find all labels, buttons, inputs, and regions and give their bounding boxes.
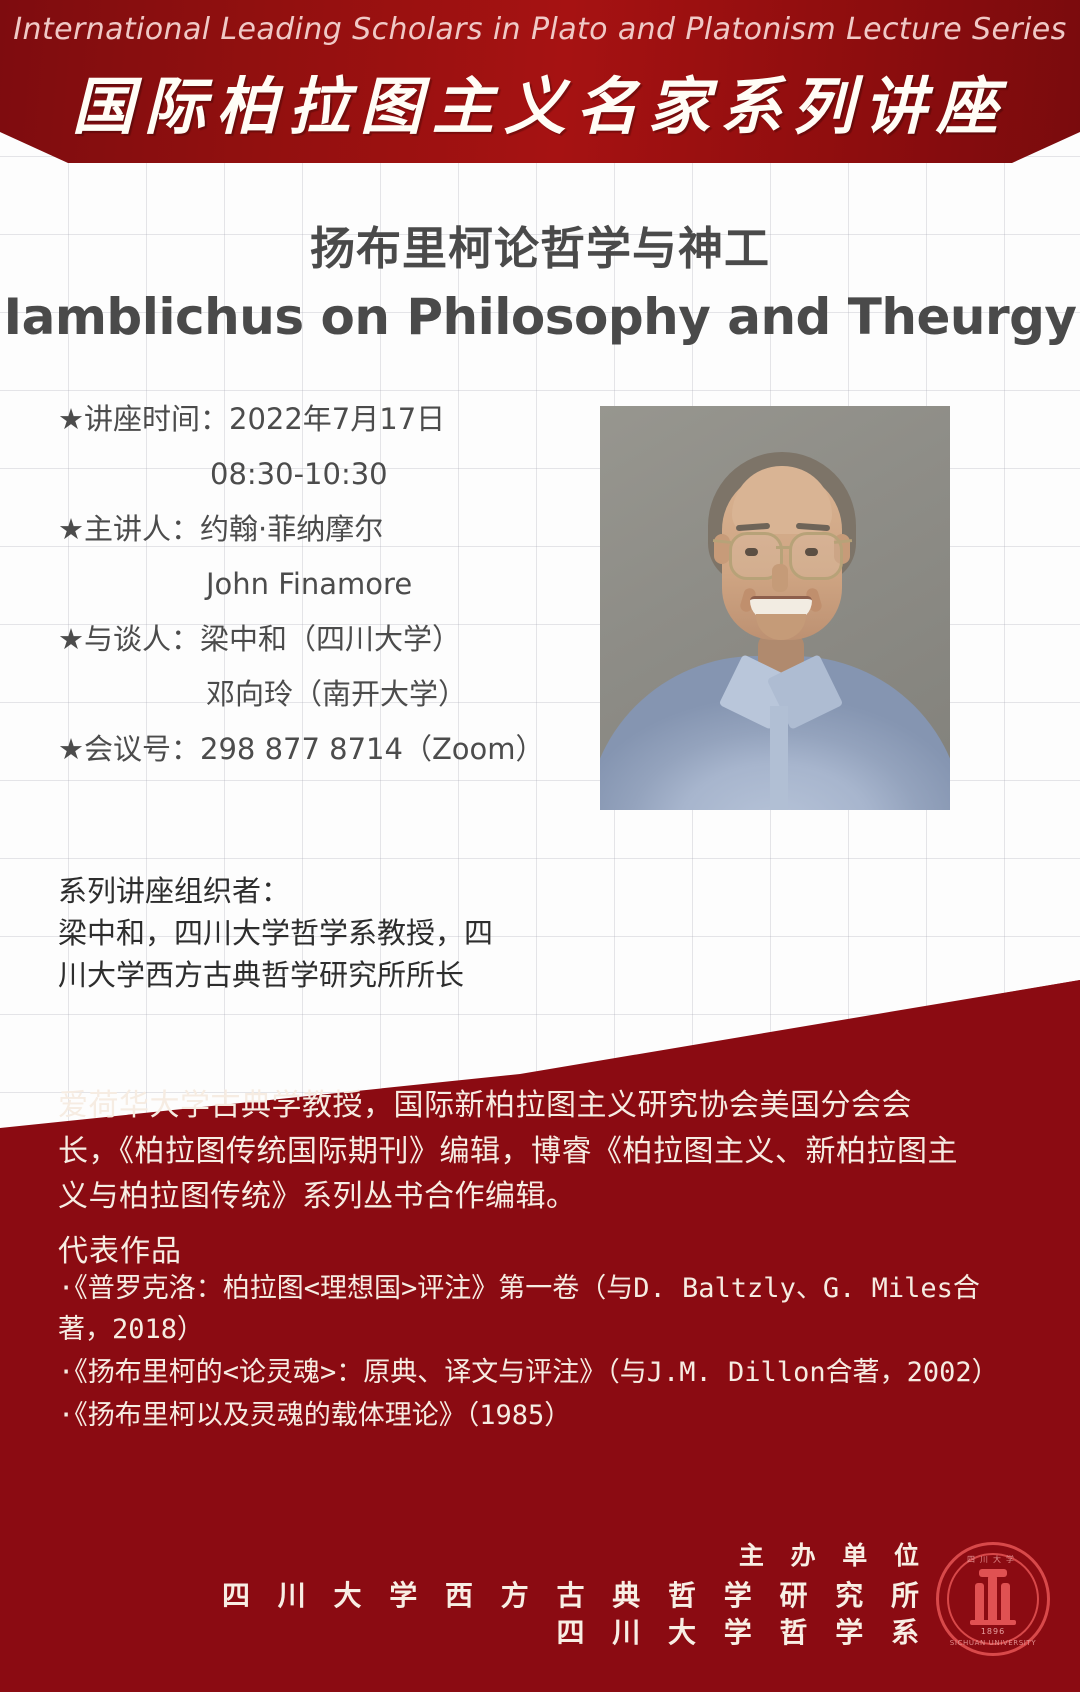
organizer-heading: 系列讲座组织者： [58,870,578,912]
glasses-bridge-icon [776,546,791,549]
host-unit-2: 四 川 大 学 哲 学 系 [222,1615,928,1652]
seal-pillar-left [975,1583,984,1625]
lecture-title-cn: 扬布里柯论哲学与神工 [0,212,1080,277]
works-list: ·《普罗克洛：柏拉图<理想国>评注》第一卷（与D. Baltzly、G. Mil… [58,1268,1018,1438]
lecture-title-en: Iamblichus on Philosophy and Theurgy [0,288,1080,346]
poster-root: International Leading Scholars in Plato … [0,0,1080,1692]
portrait-nose [772,564,788,592]
lecture-info: ★讲座时间：2022年7月17日 08:30-10:30 ★主讲人：约翰·菲纳摩… [58,405,568,790]
host-label: 主 办 单 位 [222,1536,928,1572]
info-speaker-en: John Finamore [58,570,568,599]
info-discussant: ★与谈人：梁中和（四川大学） [58,625,568,654]
list-item: ·《普罗克洛：柏拉图<理想国>评注》第一卷（与D. Baltzly、G. Mil… [58,1268,1018,1350]
speaker-portrait [600,406,950,810]
series-title-cn: 国际柏拉图主义名家系列讲座 [0,56,1080,146]
works-heading: 代表作品 [58,1226,182,1270]
organizer-block: 系列讲座组织者： 梁中和，四川大学哲学系教授，四 川大学西方古典哲学研究所所长 [58,870,578,996]
portrait-shirt-placket [770,706,788,810]
info-speaker: ★主讲人：约翰·菲纳摩尔 [58,515,568,544]
organizer-line-2: 川大学西方古典哲学研究所所长 [58,954,578,996]
seal-gate-pillars [974,1575,1012,1625]
header-content: International Leading Scholars in Plato … [0,0,1080,170]
speaker-bio: 爱荷华大学古典学教授，国际新柏拉图主义研究协会美国分会会长，《柏拉图传统国际期刊… [58,1083,958,1220]
glasses-lens-right-icon [789,532,843,580]
sichuan-university-seal-icon: 四川大学 1896 SICHUAN UNIVERSITY [936,1542,1050,1656]
series-title-en: International Leading Scholars in Plato … [0,12,1080,47]
info-discussant-2: 邓向玲（南开大学） [58,680,568,709]
seal-text-cn: 四川大学 [939,1554,1047,1565]
host-unit-1: 四 川 大 学 西 方 古 典 哲 学 研 究 所 [222,1578,928,1615]
organizer-line-1: 梁中和，四川大学哲学系教授，四 [58,912,578,954]
list-item: ·《扬布里柯的<论灵魂>：原典、译文与评注》（与J.M. Dillon合著，20… [58,1352,1018,1393]
info-time: ★讲座时间：2022年7月17日 [58,405,568,434]
seal-text-en: SICHUAN UNIVERSITY [939,1639,1047,1647]
seal-gate-base [970,1620,1016,1625]
info-time-range: 08:30-10:30 [58,460,568,489]
list-item: ·《扬布里柯以及灵魂的载体理论》（1985） [58,1395,1018,1436]
seal-pillar-right [1001,1583,1010,1625]
info-meeting-id: ★会议号：298 877 8714（Zoom） [58,735,568,764]
seal-year: 1896 [939,1627,1047,1636]
seal-pillar-middle [988,1575,997,1625]
footer-hosts: 主 办 单 位 四 川 大 学 西 方 古 典 哲 学 研 究 所 四 川 大 … [222,1536,928,1652]
